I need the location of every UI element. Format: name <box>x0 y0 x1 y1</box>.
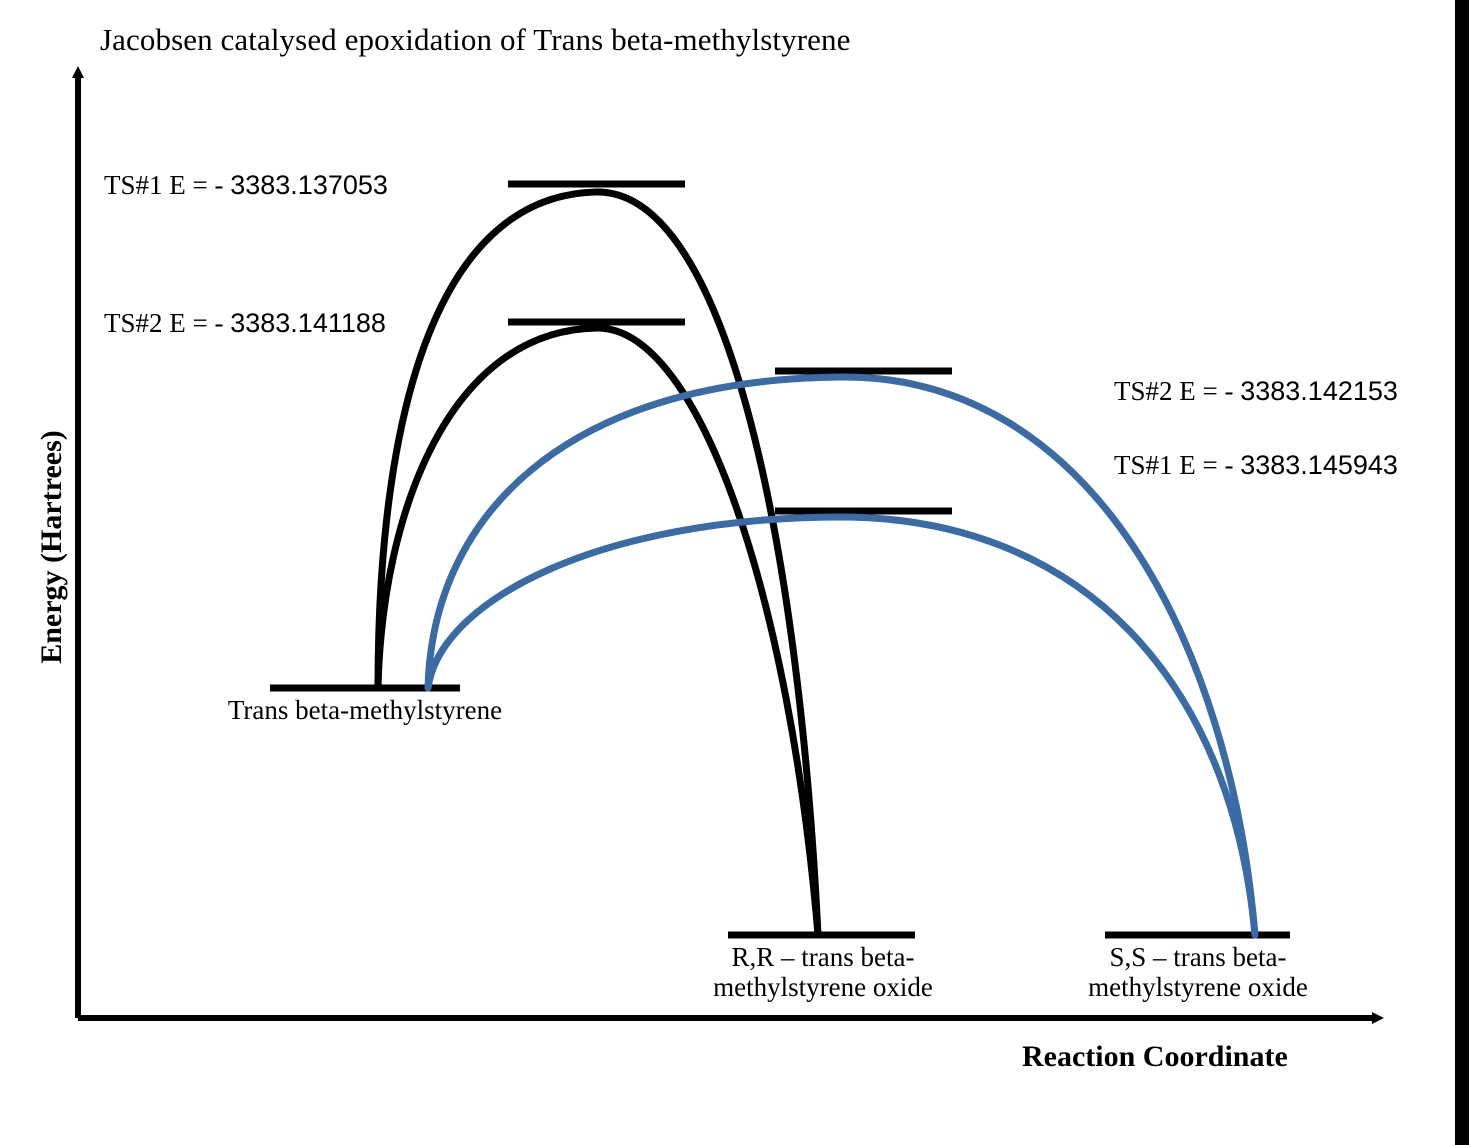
curve-ss-ts1 <box>428 517 1255 935</box>
ts2-rr-energy-prefix: TS#2 E = - <box>104 308 230 338</box>
ts1-ss-energy-label: TS#1 E = - 3383.145943 <box>1114 450 1398 481</box>
ss-product-state-label: S,S – trans beta-methylstyrene oxide <box>1060 942 1336 1002</box>
ts1-ss-energy-prefix: TS#1 E = - <box>1114 450 1240 480</box>
right-edge-band <box>1455 0 1469 1145</box>
rr-product-state-label: R,R – trans beta-methylstyrene oxide <box>692 942 954 1002</box>
pathway-rr-curves <box>378 192 818 935</box>
page-title: Jacobsen catalysed epoxidation of Trans … <box>100 22 850 58</box>
ts1-rr-energy-prefix: TS#1 E = - <box>104 170 230 200</box>
ts2-ss-energy-value: 3383.142153 <box>1240 376 1398 406</box>
ts2-rr-energy-value: 3383.141188 <box>230 308 386 338</box>
energy-diagram-canvas: Jacobsen catalysed epoxidation of Trans … <box>0 0 1469 1145</box>
x-axis-label: Reaction Coordinate <box>1022 1040 1288 1074</box>
ts1-rr-energy-value: 3383.137053 <box>230 170 388 200</box>
ts1-rr-energy-label: TS#1 E = - 3383.137053 <box>104 170 388 201</box>
ts2-ss-energy-prefix: TS#2 E = - <box>1114 376 1240 406</box>
ts1-ss-energy-value: 3383.145943 <box>1240 450 1398 480</box>
ts2-rr-energy-label: TS#2 E = - 3383.141188 <box>104 308 386 339</box>
ts2-ss-energy-label: TS#2 E = - 3383.142153 <box>1114 376 1398 407</box>
reactant-state-label: Trans beta-methylstyrene <box>215 695 515 725</box>
axis-group <box>78 78 1372 1018</box>
y-axis-label: Energy (Hartrees) <box>35 387 69 707</box>
